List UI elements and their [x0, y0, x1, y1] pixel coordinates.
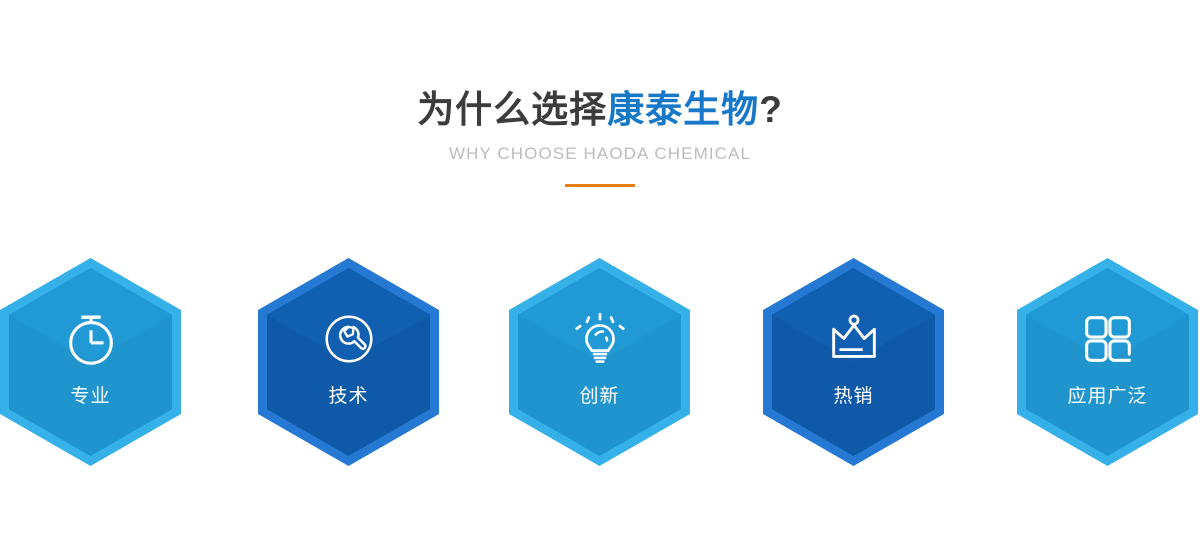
hexagon-label: 技术 — [328, 385, 368, 409]
why-choose-us-section: 为什么选择康泰生物? WHY CHOOSE HAODA CHEMICAL 专业 — [0, 0, 1200, 560]
hexagon-label: 创新 — [579, 385, 619, 409]
hexagon-label: 专业 — [70, 385, 110, 409]
lightbulb-icon — [569, 308, 631, 370]
title-prefix: 为什么选择 — [417, 89, 607, 130]
hexagon-content: 创新 — [509, 258, 690, 466]
section-subtitle: WHY CHOOSE HAODA CHEMICAL — [0, 143, 1200, 165]
heading-divider — [565, 184, 635, 187]
hexagon-label: 热销 — [833, 385, 873, 409]
hexagon-content: 技术 — [258, 258, 439, 466]
hexagon-content: 热销 — [763, 258, 944, 466]
hexagon-content: 专业 — [0, 258, 181, 466]
grid-squares-icon — [1077, 308, 1139, 370]
feature-hexagon-professional[interactable]: 专业 — [0, 258, 181, 466]
stopwatch-icon — [60, 308, 122, 370]
wrench-circle-icon — [318, 308, 380, 370]
section-heading: 为什么选择康泰生物? WHY CHOOSE HAODA CHEMICAL — [0, 86, 1200, 187]
page-title: 为什么选择康泰生物? — [0, 86, 1200, 134]
title-question-mark: ? — [759, 89, 783, 130]
feature-hexagon-bestseller[interactable]: 热销 — [763, 258, 944, 466]
feature-hexagon-wide-application[interactable]: 应用广泛 — [1017, 258, 1198, 466]
crown-icon — [823, 308, 885, 370]
title-accent: 康泰生物 — [607, 89, 759, 130]
hexagon-content: 应用广泛 — [1017, 258, 1198, 466]
hexagon-label: 应用广泛 — [1067, 385, 1147, 409]
feature-hexagon-technology[interactable]: 技术 — [258, 258, 439, 466]
feature-hexagon-row: 专业 技术 — [0, 258, 1200, 468]
feature-hexagon-innovation[interactable]: 创新 — [509, 258, 690, 466]
